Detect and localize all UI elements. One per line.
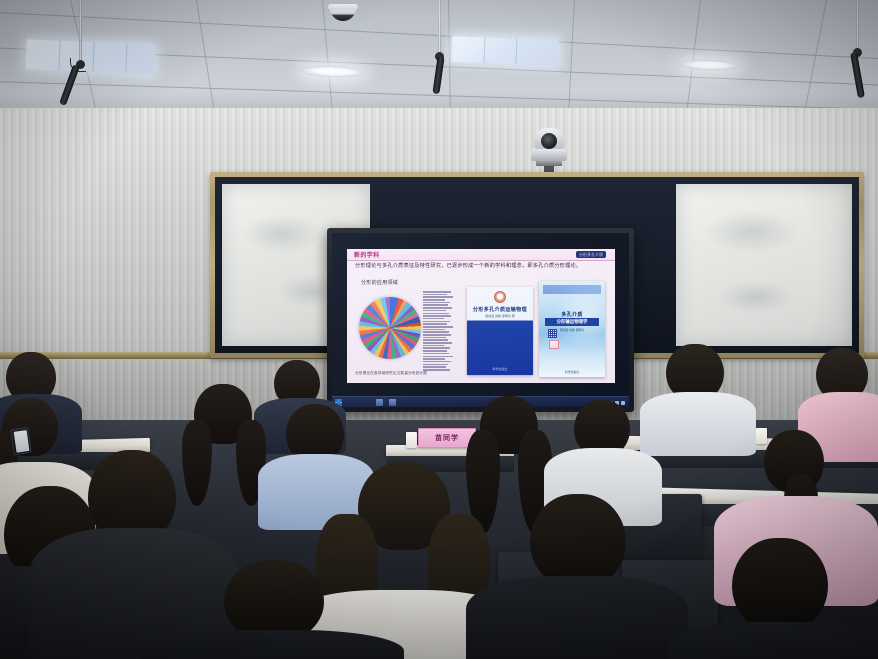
lecture-hall-photo: 新的学科 分形多孔介质 分形理论与多孔介质表征及特性研究，已逐步形成一个新的学科… — [0, 0, 878, 659]
book-cover-right: 多孔介质 分形输运物理学 郁伯铭 徐鹏 邹明清 科学出版社 — [539, 281, 605, 377]
taskbar-app-icon-2[interactable] — [389, 399, 396, 406]
pie-chart-legend — [423, 291, 455, 372]
powerpoint-slide[interactable]: 新的学科 分形多孔介质 分形理论与多孔介质表征及特性研究，已逐步形成一个新的学科… — [347, 249, 615, 383]
hanging-microphone-2 — [424, 0, 454, 100]
book-right-publisher: 科学出版社 — [539, 370, 605, 374]
book-left-logo — [494, 291, 506, 303]
paper-cup-1 — [406, 432, 417, 448]
book-left-subtitle: 郁伯铭 徐鹏 邹明清 著 — [467, 314, 533, 318]
book-left-title: 分形多孔介质运输物理 — [467, 306, 533, 313]
hanging-microphone-1 — [52, 0, 108, 112]
slide-toolbar-pill[interactable]: 分形多孔介质 — [576, 251, 606, 258]
book-right-seal — [549, 340, 559, 349]
slide-subheading: 分形的应用领域 — [361, 279, 398, 286]
display-screen[interactable]: 新的学科 分形多孔介质 分形理论与多孔介质表征及特性研究，已逐步形成一个新的学科… — [332, 233, 629, 407]
pie-chart-caption: 分形理论在各领域研究论文数量分布统计图 — [355, 371, 427, 376]
hanging-microphone-3 — [840, 0, 874, 110]
book-right-title: 多孔介质 — [539, 311, 605, 318]
person-back-right-1 — [652, 344, 742, 440]
skylight-panel-right — [452, 36, 559, 66]
pie-chart-circle — [359, 297, 421, 359]
slide-title: 新的学科 — [354, 250, 380, 259]
person-front-5 — [680, 538, 870, 659]
slide-title-bar — [347, 249, 615, 261]
ptz-camera — [528, 128, 570, 170]
book-left-publisher: 科学出版社 — [467, 367, 533, 371]
book-cover-left: 分形多孔介质运输物理 郁伯铭 徐鹏 邹明清 著 科学出版社 — [467, 287, 533, 375]
person-front-4 — [482, 494, 668, 659]
book-right-title2: 分形输运物理学 — [545, 318, 599, 326]
book-right-band — [543, 285, 601, 294]
taskbar-app-icon-1[interactable] — [376, 399, 383, 406]
interactive-display[interactable]: 新的学科 分形多孔介质 分形理论与多孔介质表征及特性研究，已逐步形成一个新的学科… — [327, 228, 634, 412]
book-right-qr-code — [548, 329, 557, 338]
smartphone[interactable] — [10, 427, 31, 455]
person-front-6 — [160, 560, 380, 659]
pie-chart — [357, 289, 457, 367]
slide-body-text: 分形理论与多孔介质表征及特性研究，已逐步形成一个新的学科和理念，即多孔介质分形理… — [355, 263, 609, 270]
whiteboard-right — [676, 184, 852, 346]
